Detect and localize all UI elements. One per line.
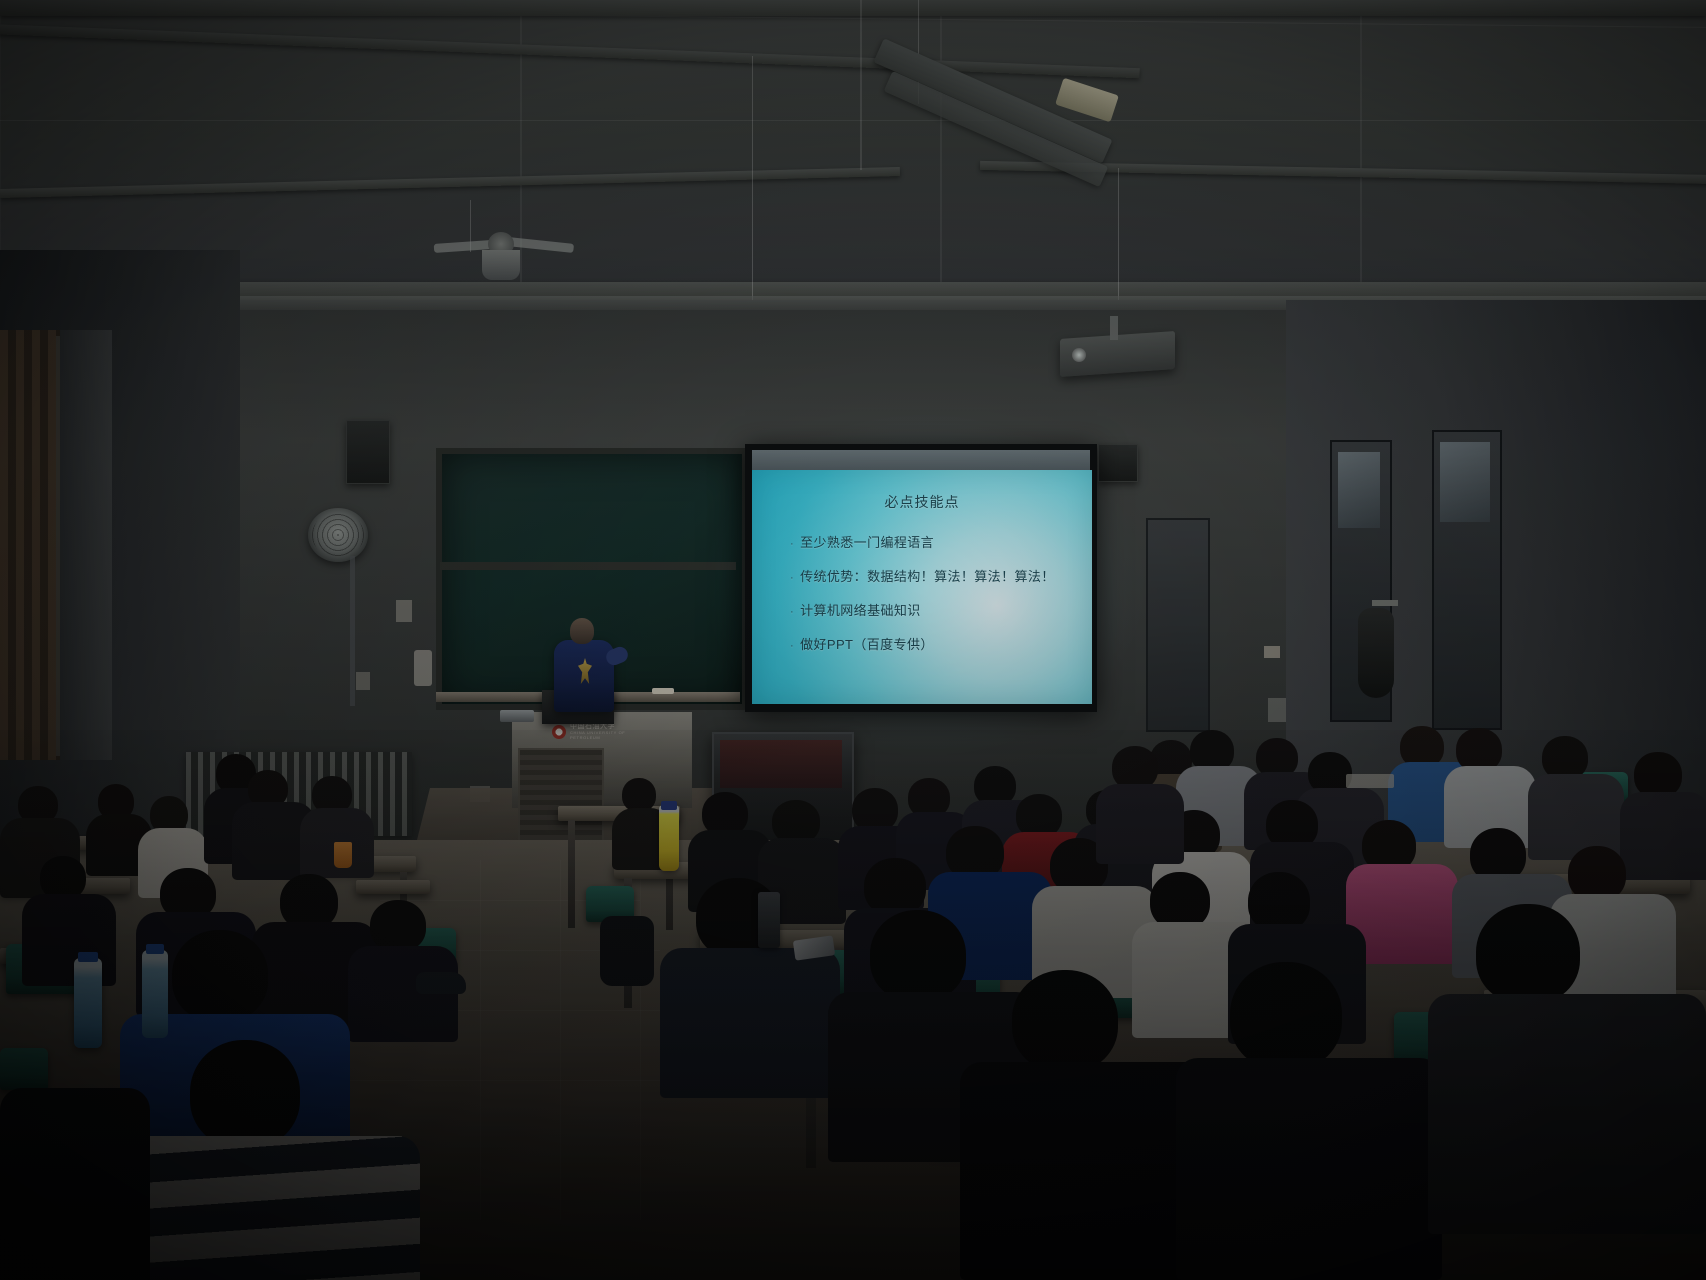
wall-speaker-right	[1098, 444, 1138, 482]
projector-mount	[1110, 316, 1118, 340]
slide-bullet-1-text: 至少熟悉一门编程语言	[800, 535, 934, 550]
wall-outlet-2	[356, 672, 370, 690]
slide-bullet-4-text: 做好PPT（百度专供）	[800, 637, 934, 652]
desk	[356, 880, 430, 894]
window-curtain	[0, 330, 60, 760]
left-wall-column	[60, 330, 112, 760]
projection-screen-roller	[752, 450, 1090, 472]
wall-fan-grill	[312, 512, 364, 558]
projector-lens-icon	[1072, 348, 1086, 362]
wall-switch-panel[interactable]	[1268, 698, 1286, 722]
desk-leg	[568, 820, 575, 928]
blue-bottle-cap	[78, 952, 98, 962]
bullet-dot-icon: ·	[790, 640, 794, 652]
presenter-head	[570, 618, 594, 644]
door-back-left[interactable]	[1146, 518, 1210, 732]
blue-water-bottle[interactable]	[74, 958, 102, 1048]
notebook-on-desk[interactable]	[1346, 774, 1394, 788]
slide-bullet-3: ·计算机网络基础知识	[790, 600, 1074, 619]
slide-bullet-2: ·传统优势：数据结构！算法！算法！算法！	[790, 566, 1074, 585]
slide-bullet-4: ·做好PPT（百度专供）	[790, 634, 1074, 653]
yellow-bottle-cap	[661, 801, 677, 810]
ceiling-fan-left	[434, 222, 586, 280]
chalkboard-divider	[440, 562, 736, 570]
slide-title: 必点技能点	[770, 492, 1074, 512]
university-seal-icon	[552, 725, 566, 739]
lecture-hall-photo: 必点技能点 ·至少熟悉一门编程语言 ·传统优势：数据结构！算法！算法！算法！ ·…	[0, 0, 1706, 1280]
yellow-drink-bottle[interactable]	[659, 805, 679, 871]
wall-phone	[414, 650, 432, 686]
door-right-2-window	[1440, 442, 1490, 522]
door-right-1-window	[1338, 452, 1380, 528]
console-display	[720, 740, 842, 788]
wall-coat-hook	[1372, 600, 1398, 606]
blue-bottle-2-cap	[146, 944, 164, 954]
wall-outlet	[396, 600, 412, 622]
dark-thermos-cup[interactable]	[758, 892, 780, 948]
shoe	[416, 972, 466, 994]
wall-fan-pole	[350, 556, 355, 706]
wall-speaker-left	[346, 420, 390, 484]
backpack	[600, 916, 654, 986]
university-name-en: CHINA UNIVERSITY OF PETROLEUM	[570, 731, 644, 740]
university-logo: 中国石油大学 CHINA UNIVERSITY OF PETROLEUM	[552, 722, 644, 742]
bullet-dot-icon: ·	[790, 606, 794, 618]
slide-bullet-3-text: 计算机网络基础知识	[800, 603, 921, 618]
bullet-dot-icon: ·	[790, 538, 794, 550]
ceiling	[0, 0, 1706, 330]
blue-water-bottle-2[interactable]	[142, 950, 168, 1038]
bullet-dot-icon: ·	[790, 572, 794, 584]
wall-notice	[1264, 646, 1280, 658]
slide-bullet-2-text: 传统优势：数据结构！算法！算法！算法！	[800, 569, 1055, 584]
orange-paper-cup[interactable]	[334, 842, 352, 868]
university-logo-text: 中国石油大学 CHINA UNIVERSITY OF PETROLEUM	[570, 723, 644, 740]
slide-bullet-1: ·至少熟悉一门编程语言	[790, 532, 1074, 551]
presentation-slide: 必点技能点 ·至少熟悉一门编程语言 ·传统优势：数据结构！算法！算法！算法！ ·…	[752, 470, 1092, 704]
chalk-piece	[652, 688, 674, 694]
laptop-on-lectern	[500, 710, 534, 722]
chair[interactable]	[0, 1048, 48, 1090]
hanging-bag	[1358, 608, 1394, 698]
